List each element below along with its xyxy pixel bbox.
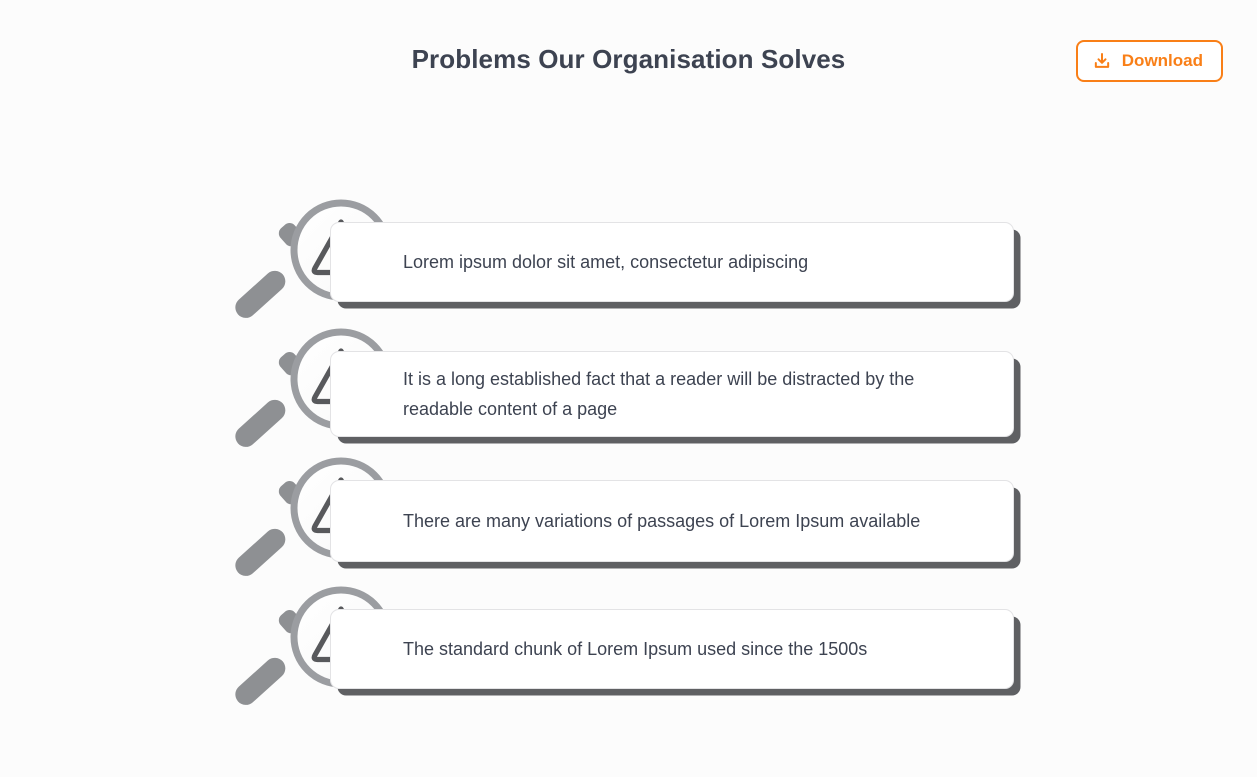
problem-card[interactable]: It is a long established fact that a rea…	[330, 351, 1014, 437]
page-title: Problems Our Organisation Solves	[0, 44, 1257, 75]
download-button[interactable]: Download	[1076, 40, 1223, 82]
list-item[interactable]: Lorem ipsum dolor sit amet, consectetur …	[0, 196, 1257, 325]
list-item[interactable]: It is a long established fact that a rea…	[0, 325, 1257, 454]
problem-text: There are many variations of passages of…	[403, 506, 920, 536]
list-item[interactable]: There are many variations of passages of…	[0, 454, 1257, 583]
problem-text: Lorem ipsum dolor sit amet, consectetur …	[403, 247, 808, 277]
problem-card[interactable]: Lorem ipsum dolor sit amet, consectetur …	[330, 222, 1014, 302]
download-icon	[1092, 51, 1112, 71]
page-header: Problems Our Organisation Solves Downloa…	[0, 0, 1257, 122]
problem-card[interactable]: There are many variations of passages of…	[330, 480, 1014, 562]
problem-text: It is a long established fact that a rea…	[403, 364, 987, 424]
problem-list: Lorem ipsum dolor sit amet, consectetur …	[0, 196, 1257, 712]
download-button-label: Download	[1122, 51, 1203, 71]
problem-card[interactable]: The standard chunk of Lorem Ipsum used s…	[330, 609, 1014, 689]
list-item[interactable]: The standard chunk of Lorem Ipsum used s…	[0, 583, 1257, 712]
problem-text: The standard chunk of Lorem Ipsum used s…	[403, 634, 867, 664]
